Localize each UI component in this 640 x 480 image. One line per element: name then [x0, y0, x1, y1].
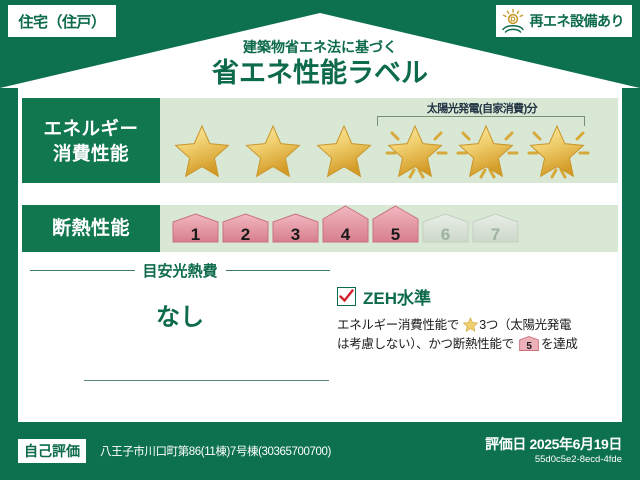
energy-performance-body: 太陽光発電(自家消費)分 [160, 98, 618, 183]
energy-star-plain [241, 120, 308, 180]
insulation-level-7: 7 [472, 213, 519, 248]
insulation-level-value: 1 [172, 225, 219, 245]
solar-bracket-label: 太陽光発電(自家消費)分 [370, 100, 594, 116]
energy-star-solar [383, 120, 450, 180]
zeh-desc-part1: エネルギー消費性能で [337, 318, 459, 332]
insulation-performance-label: 断熱性能 [22, 205, 160, 252]
evaluation-date-label: 評価日 [485, 436, 526, 452]
self-evaluation-badge: 自己評価 [18, 439, 86, 463]
insulation-level-6: 6 [422, 213, 469, 248]
energy-star-plain [170, 120, 237, 180]
insulation-level-1: 1 [172, 213, 219, 248]
category-tab-label: 住宅（住戸） [18, 11, 105, 32]
insulation-level-4: 4 [322, 205, 369, 248]
utility-cost-value: なし [30, 297, 330, 332]
title-subtitle: 建築物省エネ法に基づく [0, 38, 640, 56]
utility-cost-divider [84, 380, 329, 381]
insulation-level-2: 2 [222, 213, 269, 248]
label-title-block: 建築物省エネ法に基づく 省エネ性能ラベル [0, 38, 640, 89]
property-address: 八王子市川口町第86(11棟)7号棟(30365700700) [100, 443, 331, 459]
insulation-level-value: 3 [272, 225, 319, 245]
zeh-heading: ZEH水準 [337, 284, 612, 309]
insulation-level-value: 2 [222, 225, 269, 245]
insulation-level-value: 4 [322, 225, 369, 245]
renewable-energy-label: 再エネ設備あり [530, 11, 625, 31]
insulation-level-3: 3 [272, 213, 319, 248]
renewable-energy-tab: 再エネ設備あり [496, 5, 633, 37]
star-icon [463, 317, 478, 332]
solar-sun-icon [500, 8, 526, 34]
category-tab: 住宅（住戸） [8, 5, 116, 37]
zeh-checkbox [337, 287, 356, 306]
insulation-performance-row: 断熱性能 1 [22, 205, 618, 252]
evaluation-id: 55d0c5e2-8ecd-4fde [535, 454, 622, 465]
house-badge-icon: 5 [519, 336, 539, 351]
heading-rule-left [30, 270, 135, 271]
energy-star-solar [454, 120, 521, 180]
house-badge-value: 5 [519, 337, 539, 356]
zeh-desc-part2: は考慮しない）、かつ断熱性能で [337, 337, 514, 351]
energy-performance-label: エネルギー 消費性能 [22, 98, 160, 183]
page-title: 省エネ性能ラベル [0, 57, 640, 89]
utility-cost-heading: 目安光熱費 [30, 260, 330, 281]
energy-star-rating [170, 120, 592, 180]
insulation-level-value: 5 [372, 225, 419, 245]
check-icon [339, 289, 354, 304]
zeh-description: エネルギー消費性能で 3つ（太陽光発電 は考慮しない）、かつ断熱性能で 5 を達… [337, 316, 612, 354]
zeh-standard-block: ZEH水準 エネルギー消費性能で 3つ（太陽光発電 は考慮しない）、かつ断熱性能… [337, 284, 612, 354]
insulation-level-value: 6 [422, 225, 469, 245]
heading-rule-right [226, 270, 331, 271]
energy-label-line2: 消費性能 [53, 141, 129, 166]
energy-star-solar [525, 120, 592, 180]
insulation-level-value: 7 [472, 225, 519, 245]
energy-performance-row: エネルギー 消費性能 太陽光発電(自家消費)分 [22, 98, 618, 183]
energy-star-plain [312, 120, 379, 180]
insulation-level-scale: 1 2 3 [172, 205, 519, 248]
label-content-card: エネルギー 消費性能 太陽光発電(自家消費)分 [22, 92, 618, 422]
evaluation-date-value: 2025年6月19日 [529, 436, 622, 452]
insulation-performance-body: 1 2 3 [160, 205, 618, 252]
label-footer: 自己評価 八王子市川口町第86(11棟)7号棟(30365700700) 評価日… [0, 422, 640, 480]
evaluation-date: 評価日 2025年6月19日 [485, 434, 622, 454]
zeh-title: ZEH水準 [363, 284, 431, 309]
zeh-desc-star-count: 3つ（太陽光発電 [479, 318, 571, 332]
zeh-desc-part3: を達成 [541, 337, 578, 351]
insulation-level-5: 5 [372, 205, 419, 248]
utility-cost-heading-label: 目安光熱費 [143, 260, 218, 281]
energy-label-line1: エネルギー [43, 116, 138, 141]
